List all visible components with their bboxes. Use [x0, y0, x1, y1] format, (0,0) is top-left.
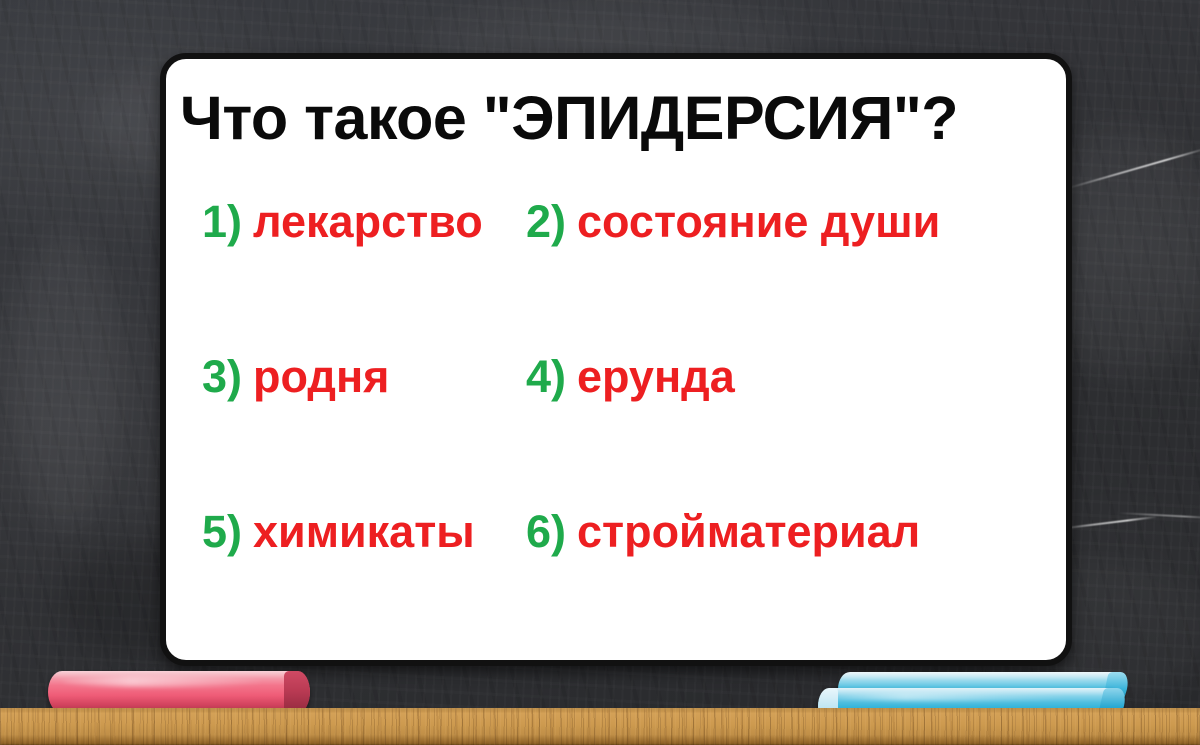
- option-row: 3) родня 4) ерунда: [166, 354, 1066, 509]
- chalk-smudge: [10, 230, 120, 530]
- option-number: 3): [202, 354, 242, 399]
- option-number: 2): [526, 199, 566, 244]
- option-number: 4): [526, 354, 566, 399]
- options-list: 1) лекарство 2) состояние души 3) родня …: [166, 199, 1066, 664]
- option-2[interactable]: 2) состояние души: [526, 199, 940, 244]
- option-5[interactable]: 5) химикаты: [166, 509, 526, 554]
- option-number: 5): [202, 509, 242, 554]
- option-label: лекарство: [253, 199, 483, 244]
- option-row: 1) лекарство 2) состояние души: [166, 199, 1066, 354]
- quiz-card: Что такое "ЭПИДЕРСИЯ"? 1) лекарство 2) с…: [160, 53, 1072, 666]
- option-1[interactable]: 1) лекарство: [166, 199, 526, 244]
- option-label: состояние души: [577, 199, 940, 244]
- option-6[interactable]: 6) стройматериал: [526, 509, 920, 554]
- option-label: стройматериал: [577, 509, 920, 554]
- quiz-slide: Что такое "ЭПИДЕРСИЯ"? 1) лекарство 2) с…: [0, 0, 1200, 745]
- wood-grain-texture: [0, 708, 1200, 745]
- option-number: 1): [202, 199, 242, 244]
- pink-chalk: [48, 671, 310, 713]
- option-label: родня: [253, 354, 389, 399]
- wooden-ledge: [0, 708, 1200, 745]
- option-row: 5) химикаты 6) стройматериал: [166, 509, 1066, 664]
- option-number: 6): [526, 509, 566, 554]
- option-3[interactable]: 3) родня: [166, 354, 526, 399]
- option-4[interactable]: 4) ерунда: [526, 354, 735, 399]
- option-label: химикаты: [253, 509, 475, 554]
- option-label: ерунда: [577, 354, 735, 399]
- page-title: Что такое "ЭПИДЕРСИЯ"?: [180, 85, 1072, 152]
